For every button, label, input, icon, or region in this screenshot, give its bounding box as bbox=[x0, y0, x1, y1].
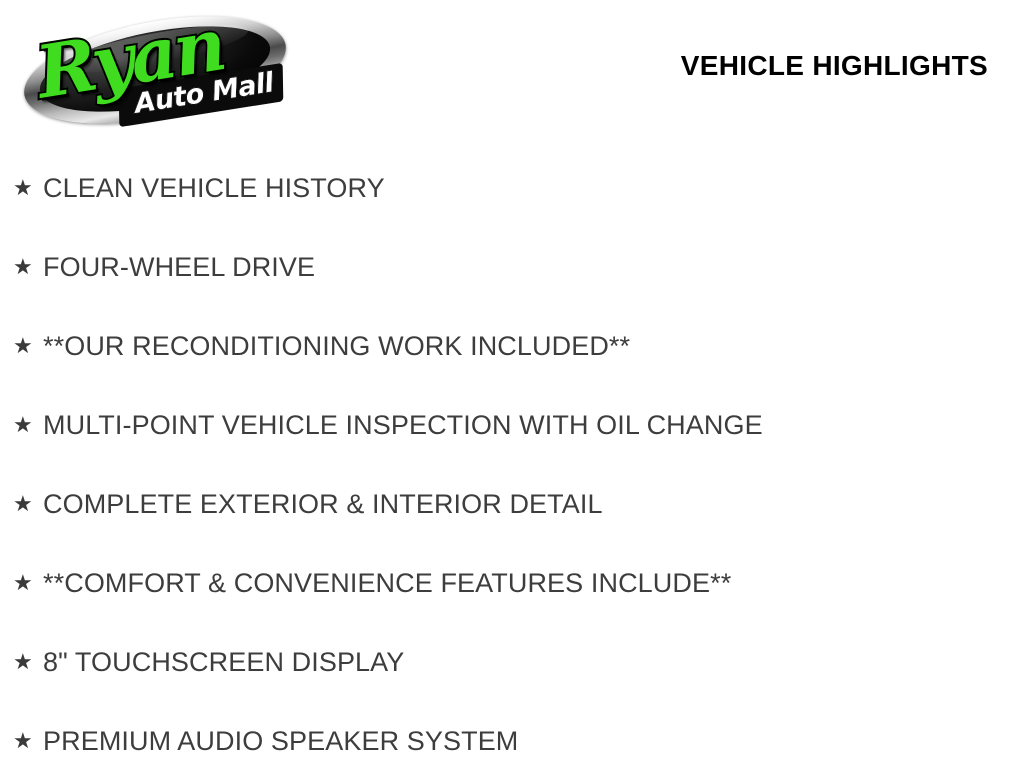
list-item-label: **OUR RECONDITIONING WORK INCLUDED** bbox=[43, 330, 630, 362]
list-item: ★ PREMIUM AUDIO SPEAKER SYSTEM bbox=[13, 701, 1013, 780]
list-item: ★ COMPLETE EXTERIOR & INTERIOR DETAIL bbox=[13, 464, 1013, 543]
star-icon: ★ bbox=[13, 730, 43, 752]
star-icon: ★ bbox=[13, 414, 43, 436]
list-item: ★ 8" TOUCHSCREEN DISPLAY bbox=[13, 622, 1013, 701]
list-item-label: 8" TOUCHSCREEN DISPLAY bbox=[43, 646, 404, 678]
list-item-label: **COMFORT & CONVENIENCE FEATURES INCLUDE… bbox=[43, 567, 731, 599]
list-item-label: PREMIUM AUDIO SPEAKER SYSTEM bbox=[43, 725, 518, 757]
vehicle-highlights-list: ★ CLEAN VEHICLE HISTORY ★ FOUR-WHEEL DRI… bbox=[13, 148, 1013, 780]
star-icon: ★ bbox=[13, 493, 43, 515]
list-item-label: FOUR-WHEEL DRIVE bbox=[43, 251, 315, 283]
list-item: ★ CLEAN VEHICLE HISTORY bbox=[13, 148, 1013, 227]
list-item: ★ FOUR-WHEEL DRIVE bbox=[13, 227, 1013, 306]
star-icon: ★ bbox=[13, 335, 43, 357]
list-item: ★ **OUR RECONDITIONING WORK INCLUDED** bbox=[13, 306, 1013, 385]
dealer-logo[interactable]: Ryan Auto Mall bbox=[14, 8, 294, 126]
logo-artwork: Ryan Auto Mall bbox=[14, 8, 294, 126]
page-title: VEHICLE HIGHLIGHTS bbox=[681, 50, 988, 82]
star-icon: ★ bbox=[13, 572, 43, 594]
list-item-label: CLEAN VEHICLE HISTORY bbox=[43, 172, 385, 204]
star-icon: ★ bbox=[13, 256, 43, 278]
list-item-label: COMPLETE EXTERIOR & INTERIOR DETAIL bbox=[43, 488, 603, 520]
header-bar: Ryan Auto Mall VEHICLE HIGHLIGHTS bbox=[0, 0, 1024, 140]
list-item: ★ MULTI-POINT VEHICLE INSPECTION WITH OI… bbox=[13, 385, 1013, 464]
star-icon: ★ bbox=[13, 177, 43, 199]
star-icon: ★ bbox=[13, 651, 43, 673]
list-item-label: MULTI-POINT VEHICLE INSPECTION WITH OIL … bbox=[43, 409, 763, 441]
list-item: ★ **COMFORT & CONVENIENCE FEATURES INCLU… bbox=[13, 543, 1013, 622]
